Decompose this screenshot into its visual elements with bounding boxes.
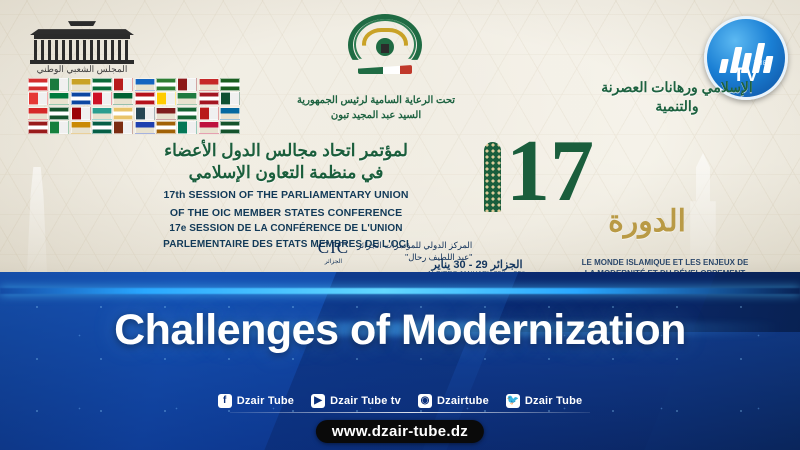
- member-state-flag: [92, 78, 112, 91]
- cic-logo-icon: CIC الجزائر: [318, 238, 349, 265]
- member-state-flag: [199, 78, 219, 91]
- member-state-flag: [113, 107, 133, 120]
- conference-title-french-1: 17e SESSION DE LA CONFÉRENCE DE L'UNION: [100, 223, 472, 235]
- theme-french-line-1: LE MONDE ISLAMIQUE ET LES ENJEUX DE: [540, 258, 790, 269]
- parliament-columns: [34, 40, 130, 60]
- member-state-flag: [156, 78, 176, 91]
- social-links-row: fDzair Tube▶Dzair Tube tv◉Dzairtube🐦Dzai…: [0, 394, 800, 408]
- member-state-flag: [71, 121, 91, 134]
- member-state-flag: [28, 92, 48, 105]
- conference-poster: المجلس الشعبي الوطني TUBE TV الإسلامي ور…: [0, 0, 800, 295]
- member-state-flag: [135, 107, 155, 120]
- member-state-flag: [113, 78, 133, 91]
- instagram-icon[interactable]: ◉: [418, 394, 432, 408]
- social-link-dzairtube[interactable]: ◉Dzairtube: [418, 394, 489, 408]
- parliament-cornice: [34, 34, 130, 39]
- member-state-flag: [49, 121, 69, 134]
- member-state-flag: [220, 78, 240, 91]
- member-state-flag: [28, 121, 48, 134]
- algeria-flag-ribbon: [358, 65, 412, 74]
- member-state-flag: [177, 92, 197, 105]
- lower-title-banner: Challenges of Modernization fDzair Tube▶…: [0, 272, 800, 450]
- member-state-flag: [156, 121, 176, 134]
- member-state-flag: [177, 121, 197, 134]
- member-state-flag: [135, 92, 155, 105]
- session-number-value: 17: [506, 136, 594, 208]
- conference-title-arabic-2: في منظمة التعاون الإسلامي: [100, 162, 472, 184]
- member-state-flag: [71, 92, 91, 105]
- member-state-flag: [156, 92, 176, 105]
- member-state-flag: [220, 121, 240, 134]
- screenshot-root: المجلس الشعبي الوطني TUBE TV الإسلامي ور…: [0, 0, 800, 450]
- member-state-flag: [71, 107, 91, 120]
- member-state-flag: [177, 107, 197, 120]
- theme-arabic-text: الإسلامي ورهانات العصرنة والتنمية: [582, 78, 772, 116]
- conference-title-block: لمؤتمر اتحاد مجالس الدول الأعضاء في منظم…: [100, 140, 472, 251]
- conference-title-english-2: OF THE OIC MEMBER STATES CONFERENCE: [100, 207, 472, 219]
- youtube-icon[interactable]: ▶: [311, 394, 325, 408]
- patronage-block: تحت الرعاية السامية لرئيس الجمهورية السي…: [268, 94, 484, 123]
- social-handle: Dzairtube: [437, 395, 489, 407]
- member-states-flags-grid: [28, 78, 240, 134]
- social-link-dzair-tube[interactable]: fDzair Tube: [218, 394, 294, 408]
- social-handle: Dzair Tube: [525, 395, 582, 407]
- dates-arabic: الجزائر 29 - 30 يناير: [412, 258, 542, 271]
- social-divider: [230, 412, 590, 413]
- cic-acronym-sub: الجزائر: [318, 258, 349, 265]
- social-handle: Dzair Tube tv: [330, 395, 401, 407]
- member-state-flag: [135, 121, 155, 134]
- member-state-flag: [92, 92, 112, 105]
- facebook-icon[interactable]: f: [218, 394, 232, 408]
- kaaba-icon: [381, 44, 389, 53]
- cic-acronym: CIC: [318, 238, 349, 257]
- conference-title-arabic-1: لمؤتمر اتحاد مجالس الدول الأعضاء: [100, 140, 472, 162]
- member-state-flag: [92, 121, 112, 134]
- session-number-one-bar: [484, 142, 501, 212]
- member-state-flag: [92, 107, 112, 120]
- conference-title-english-1: 17th SESSION OF THE PARLIAMENTARY UNION: [100, 189, 472, 201]
- member-state-flag: [49, 92, 69, 105]
- member-state-flag: [199, 121, 219, 134]
- member-state-flag: [156, 107, 176, 120]
- member-state-flag: [135, 78, 155, 91]
- member-state-flag: [49, 107, 69, 120]
- member-state-flag: [199, 107, 219, 120]
- banner-glow-line: [0, 288, 800, 294]
- oic-emblem-icon: [348, 14, 422, 76]
- twitter-icon[interactable]: 🐦: [506, 394, 520, 408]
- parliament-building-icon: المجلس الشعبي الوطني: [26, 24, 138, 80]
- patronage-line-1: تحت الرعاية السامية لرئيس الجمهورية: [268, 94, 484, 109]
- member-state-flag: [28, 78, 48, 91]
- session-arabic-label: الدورة: [608, 204, 686, 239]
- social-link-dzair-tube-tv[interactable]: ▶Dzair Tube tv: [311, 394, 401, 408]
- social-handle: Dzair Tube: [237, 395, 294, 407]
- member-state-flag: [177, 78, 197, 91]
- headline-text: Challenges of Modernization: [0, 306, 800, 355]
- member-state-flag: [220, 92, 240, 105]
- member-state-flag: [199, 92, 219, 105]
- assembly-arabic-caption: المجلس الشعبي الوطني: [26, 64, 138, 75]
- patronage-line-2: السيد عبد المجيد تبون: [268, 109, 484, 124]
- website-url: www.dzair-tube.dz: [316, 420, 484, 443]
- member-state-flag: [28, 107, 48, 120]
- social-link-dzair-tube[interactable]: 🐦Dzair Tube: [506, 394, 582, 408]
- member-state-flag: [113, 92, 133, 105]
- venue-arabic-line-1: المركز الدولي للمؤتمرات الجزائر: [357, 240, 472, 251]
- member-state-flag: [49, 78, 69, 91]
- member-state-flag: [71, 78, 91, 91]
- member-state-flag: [113, 121, 133, 134]
- member-state-flag: [220, 107, 240, 120]
- session-number-graphic: 17 الدورة: [480, 132, 690, 237]
